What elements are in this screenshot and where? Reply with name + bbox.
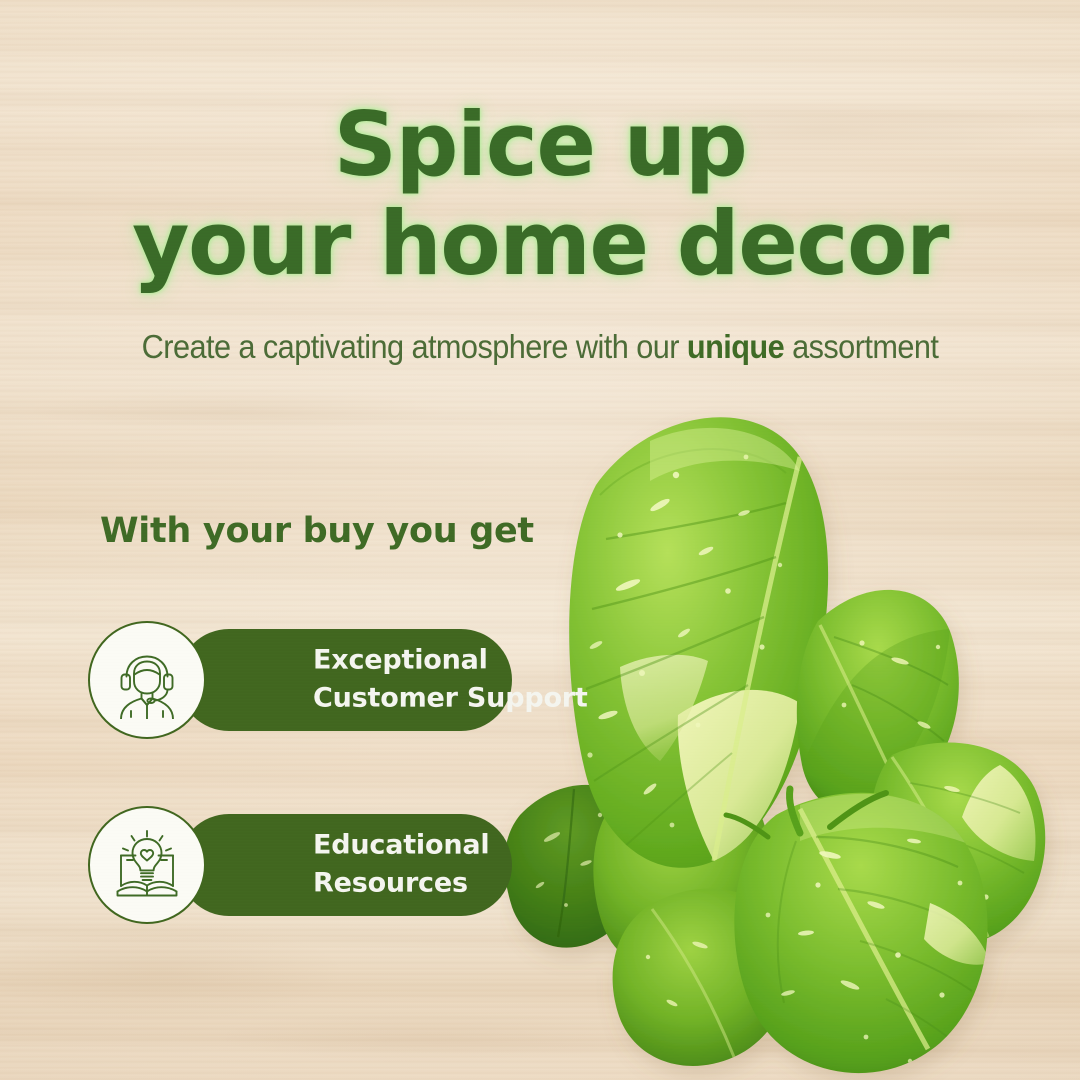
headset-support-agent-icon <box>88 621 206 739</box>
headline-line-2: your home decor <box>0 195 1080 294</box>
subtitle-text-after: assortment <box>784 328 938 365</box>
subtitle: Create a captivating atmosphere with our… <box>38 327 1042 367</box>
benefit-label: Exceptional Customer Support <box>313 642 603 719</box>
subtitle-emphasis: unique <box>687 328 784 365</box>
headline-line-1: Spice up <box>0 96 1080 195</box>
benefit-label: Educational Resources <box>313 827 603 904</box>
benefit-item-customer-support[interactable]: Exceptional Customer Support <box>88 621 512 739</box>
subtitle-text-before: Create a captivating atmosphere with our <box>142 328 687 365</box>
promo-poster: Spice up your home decor Create a captiv… <box>0 0 1080 1080</box>
page-title: Spice up your home decor <box>0 96 1080 293</box>
benefit-item-educational-resources[interactable]: Educational Resources <box>88 806 512 924</box>
benefits-heading: With your buy you get <box>100 511 534 551</box>
open-book-lightbulb-icon <box>88 806 206 924</box>
